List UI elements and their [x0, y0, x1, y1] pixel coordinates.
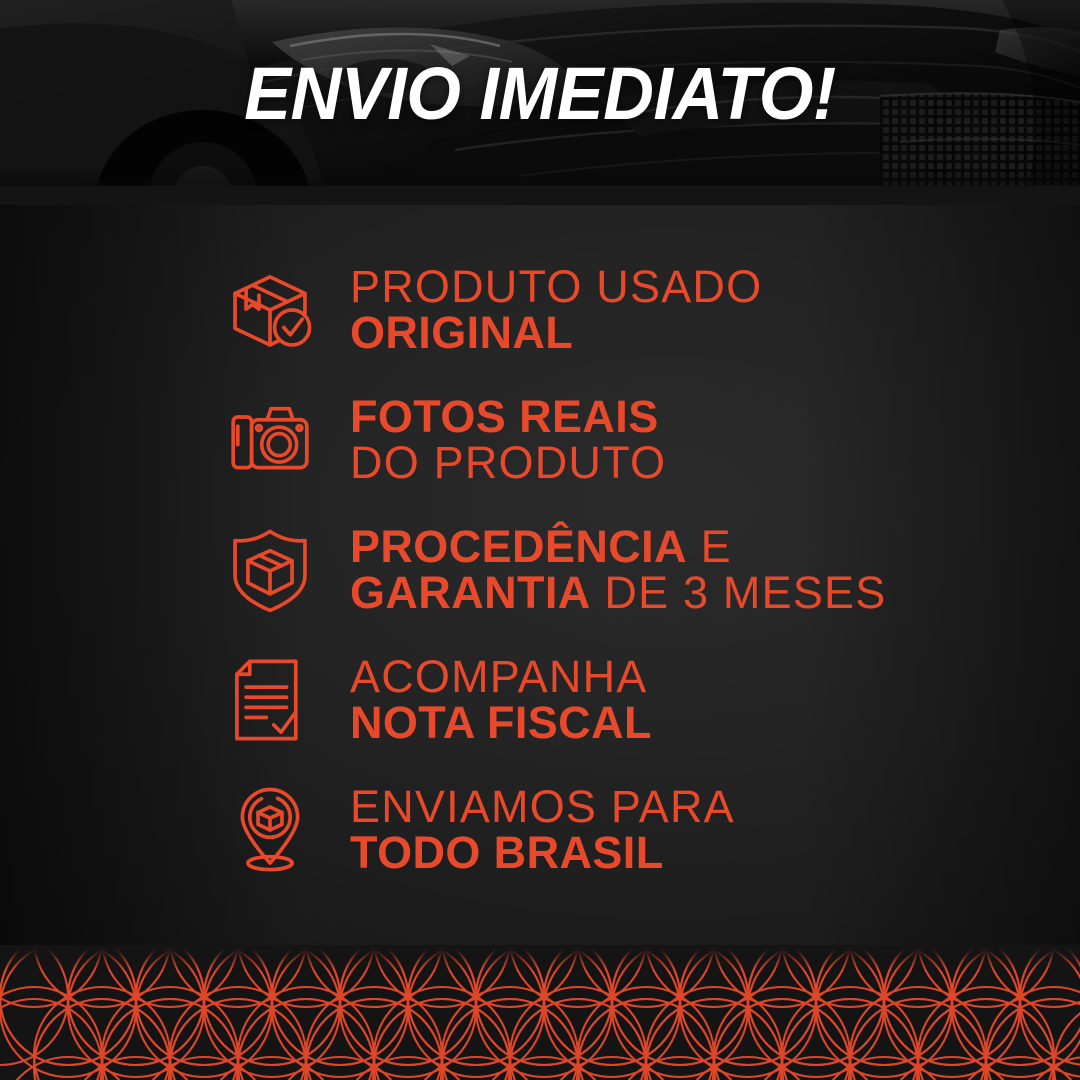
feature-line-2: DO PRODUTO: [350, 440, 666, 486]
feature-text: PRODUTO USADO ORIGINAL: [350, 264, 762, 356]
feature-text: PROCEDÊNCIA E GARANTIA DE 3 MESES: [350, 524, 886, 616]
feature-line-1: FOTOS REAIS: [350, 394, 666, 440]
feature-text: ENVIAMOS PARA TODO BRASIL: [350, 784, 735, 876]
feature-item: FOTOS REAIS DO PRODUTO: [222, 380, 1080, 500]
feature-line-1: ACOMPANHA: [350, 654, 652, 700]
footer-pattern: [0, 945, 1080, 1080]
feature-list: PRODUTO USADO ORIGINAL: [222, 250, 1080, 890]
promo-banner: ENVIO IMEDIATO! PRODUTO USADO: [0, 0, 1080, 1080]
camera-icon: [222, 392, 318, 488]
box-check-icon: [222, 262, 318, 358]
feature-line-2: TODO BRASIL: [350, 830, 735, 876]
feature-item: ENVIAMOS PARA TODO BRASIL: [222, 770, 1080, 890]
feature-text: ACOMPANHA NOTA FISCAL: [350, 654, 652, 746]
feature-line-1: ENVIAMOS PARA: [350, 784, 735, 830]
location-pin-box-icon: [222, 782, 318, 878]
feature-item: ACOMPANHA NOTA FISCAL: [222, 640, 1080, 760]
feature-line-2: GARANTIA DE 3 MESES: [350, 570, 886, 616]
feature-line-1: PROCEDÊNCIA E: [350, 524, 886, 570]
invoice-document-check-icon: [222, 652, 318, 748]
feature-line-2: ORIGINAL: [350, 310, 762, 356]
feature-item: PRODUTO USADO ORIGINAL: [222, 250, 1080, 370]
feature-text: FOTOS REAIS DO PRODUTO: [350, 394, 666, 486]
page-title: ENVIO IMEDIATO!: [27, 57, 1053, 131]
hero-banner: ENVIO IMEDIATO!: [0, 0, 1080, 205]
shield-box-icon: [222, 522, 318, 618]
feature-line-1: PRODUTO USADO: [350, 264, 762, 310]
guilloche-circles: [0, 945, 1080, 1080]
feature-item: PROCEDÊNCIA E GARANTIA DE 3 MESES: [222, 510, 1080, 630]
feature-line-2: NOTA FISCAL: [350, 700, 652, 746]
